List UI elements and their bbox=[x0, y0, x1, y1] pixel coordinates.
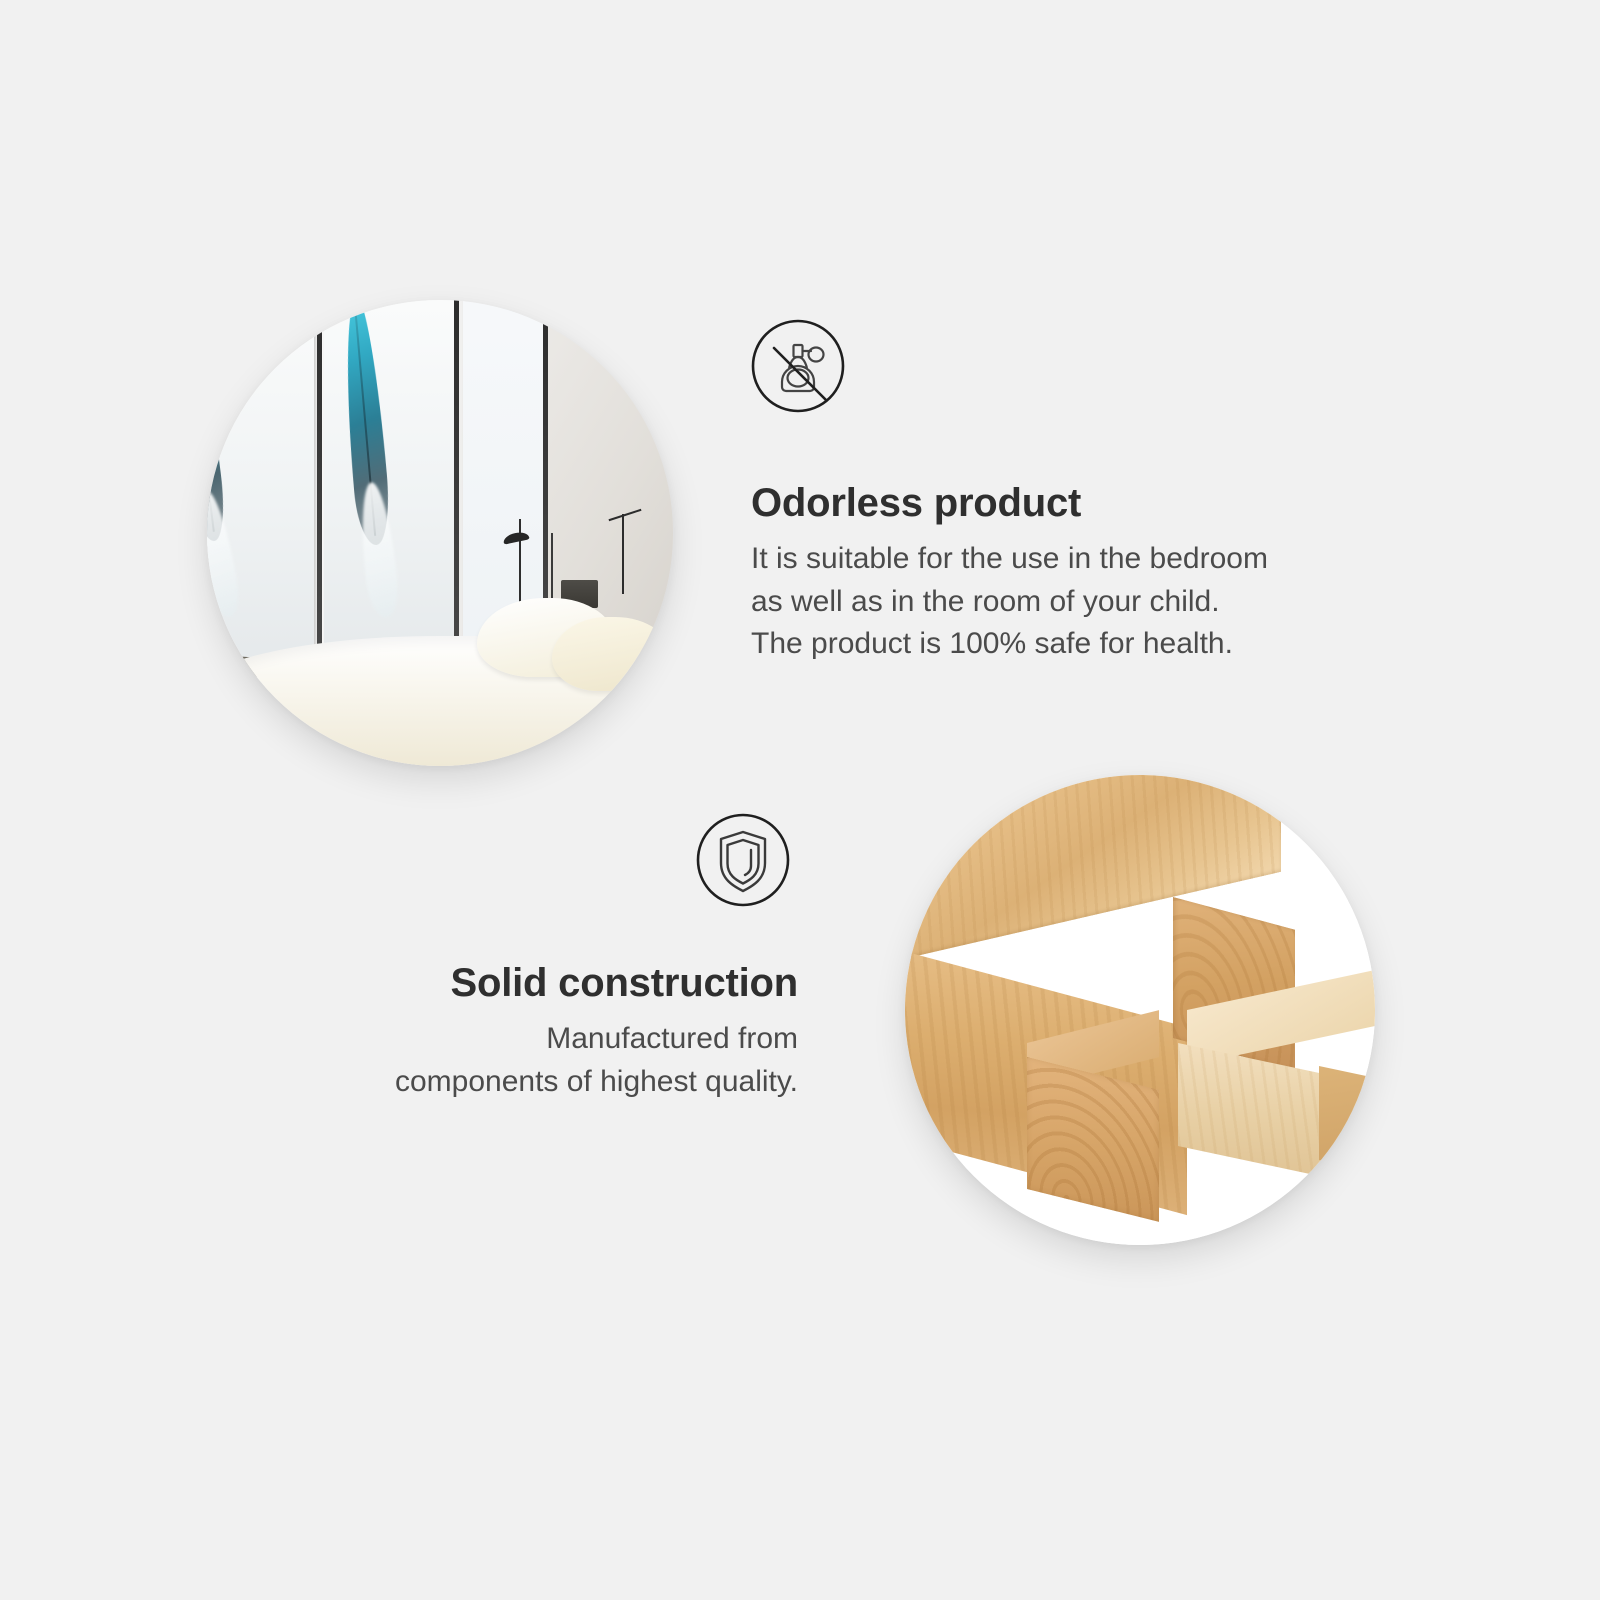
panel-divider-2 bbox=[454, 300, 459, 682]
bedroom-scene bbox=[207, 300, 673, 766]
no-perfume-icon bbox=[748, 316, 848, 416]
panel-divider-1 bbox=[317, 300, 322, 682]
odorless-body-line-3: The product is 100% safe for health. bbox=[751, 623, 1431, 666]
wall-mark bbox=[653, 336, 662, 346]
solid-body-line-2: components of highest quality. bbox=[250, 1061, 798, 1104]
plank-end-face bbox=[1319, 1066, 1375, 1173]
feather-down-1 bbox=[207, 488, 242, 619]
art-panel-2 bbox=[324, 300, 454, 682]
wall-lamp-stem bbox=[622, 514, 624, 593]
bedroom-feather-artwork-photo bbox=[207, 300, 673, 766]
solid-construction-title: Solid construction bbox=[250, 962, 798, 1004]
solid-body-line-1: Manufactured from bbox=[250, 1018, 798, 1061]
odorless-title: Odorless product bbox=[751, 482, 1431, 524]
wooden-beams-photo bbox=[905, 775, 1375, 1245]
pillow-2 bbox=[552, 617, 673, 692]
art-panel-1 bbox=[207, 300, 314, 682]
odorless-body-line-2: as well as in the room of your child. bbox=[751, 581, 1431, 624]
infographic-canvas: Odorless product It is suitable for the … bbox=[0, 0, 1600, 1600]
odorless-body-line-1: It is suitable for the use in the bedroo… bbox=[751, 538, 1431, 581]
solid-construction-feature-text: Solid construction Manufactured from com… bbox=[250, 962, 798, 1103]
odorless-feature-text: Odorless product It is suitable for the … bbox=[751, 482, 1431, 666]
shield-icon bbox=[693, 810, 793, 910]
odorless-body: It is suitable for the use in the bedroo… bbox=[751, 538, 1431, 666]
solid-construction-body: Manufactured from components of highest … bbox=[250, 1018, 798, 1103]
wood-scene bbox=[905, 775, 1375, 1245]
